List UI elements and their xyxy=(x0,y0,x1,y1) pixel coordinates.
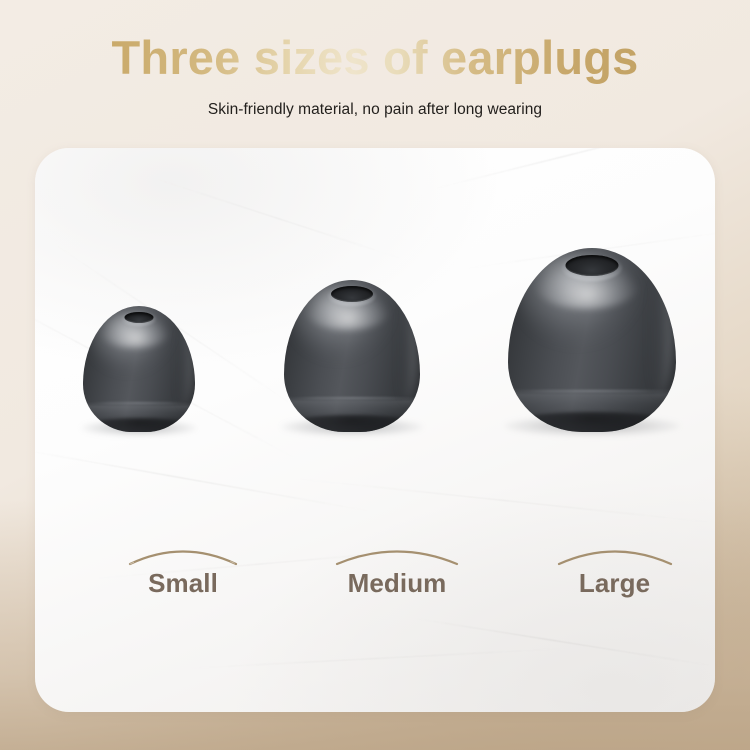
rim-light xyxy=(396,304,418,401)
size-label-text: Small xyxy=(103,568,263,599)
size-label-text: Medium xyxy=(307,568,487,599)
size-label-large: Large xyxy=(532,540,697,599)
product-card: Small Medium Large xyxy=(35,148,715,712)
base-edge xyxy=(287,415,418,432)
earplug-large xyxy=(508,248,676,432)
flange-line xyxy=(516,390,667,392)
earplug-medium xyxy=(284,280,420,432)
earplug-bore xyxy=(566,255,619,276)
page-subtitle: Skin-friendly material, no pain after lo… xyxy=(0,101,750,119)
earplug-small xyxy=(83,306,195,432)
size-label-text: Large xyxy=(532,568,697,599)
base-edge xyxy=(85,418,193,432)
size-label-medium: Medium xyxy=(307,540,487,599)
size-label-small: Small xyxy=(103,540,263,599)
arc-accent-icon xyxy=(127,540,239,566)
arc-accent-icon xyxy=(556,540,674,566)
earplug-bore xyxy=(331,286,373,302)
product-poster: Three sizes of earplugs Skin-friendly ma… xyxy=(0,0,750,750)
page-title: Three sizes of earplugs xyxy=(0,32,750,85)
earplug-bore xyxy=(125,312,154,323)
base-edge xyxy=(511,412,672,432)
rim-light xyxy=(175,326,193,407)
arc-accent-icon xyxy=(334,540,460,566)
flange-line xyxy=(291,397,413,399)
rim-light xyxy=(646,277,673,395)
